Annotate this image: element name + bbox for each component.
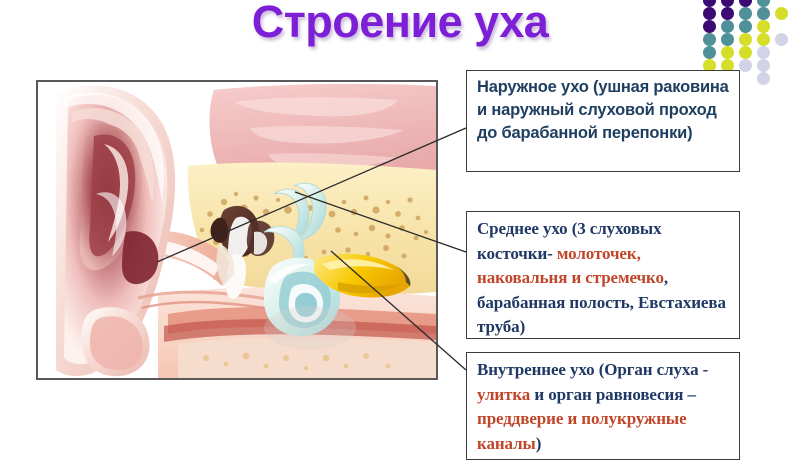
decorative-dot (757, 7, 770, 20)
decorative-dot (757, 46, 770, 59)
ear-anatomy-illustration (38, 82, 436, 378)
inner-ear-cochlea-highlight: улитка (477, 385, 530, 404)
inner-ear-text-part-3: ) (536, 434, 542, 453)
decorative-dot (739, 33, 752, 46)
callout-middle-ear-text: Среднее ухо (3 слуховых косточки- молото… (467, 212, 739, 344)
decorative-dot (757, 72, 770, 85)
decorative-dot (721, 7, 734, 20)
inner-ear-text-part-1: Внутреннее ухо (Орган слуха - (477, 360, 708, 379)
callout-middle-ear[interactable]: Среднее ухо (3 слуховых косточки- молото… (466, 211, 740, 339)
callout-outer-ear-text: Наружное ухо (ушная раковина и наружный … (467, 71, 739, 149)
decorative-dot (721, 0, 734, 7)
decorative-dot (757, 0, 770, 7)
inner-ear-vestibule-highlight: преддверие и полукружные каналы (477, 409, 687, 453)
ear-anatomy-svg (38, 82, 436, 378)
decorative-dot (757, 59, 770, 72)
decorative-dot (703, 7, 716, 20)
ear-anatomy-figure (36, 80, 438, 380)
callout-inner-ear-text: Внутреннее ухо (Орган слуха - улитка и о… (467, 353, 739, 460)
decorative-dot (775, 7, 788, 20)
page-title: Строение уха (150, 0, 650, 48)
decorative-dot (739, 59, 752, 72)
decorative-dot (721, 33, 734, 46)
decorative-dot (739, 20, 752, 33)
decorative-dot (703, 0, 716, 7)
decorative-dot (721, 46, 734, 59)
decorative-dot (739, 7, 752, 20)
decorative-dot (757, 33, 770, 46)
decorative-dot (721, 20, 734, 33)
inner-ear-text-part-2: и орган равновесия – (530, 385, 696, 404)
callout-outer-ear[interactable]: Наружное ухо (ушная раковина и наружный … (466, 70, 740, 172)
slide-root: Строение уха (0, 0, 800, 470)
decorative-dot (703, 20, 716, 33)
decorative-dot (757, 20, 770, 33)
callout-inner-ear[interactable]: Внутреннее ухо (Орган слуха - улитка и о… (466, 352, 740, 460)
decorative-dot (775, 33, 788, 46)
decorative-dot (739, 0, 752, 7)
decorative-dot (739, 46, 752, 59)
decorative-dot (703, 33, 716, 46)
decorative-dot (703, 46, 716, 59)
